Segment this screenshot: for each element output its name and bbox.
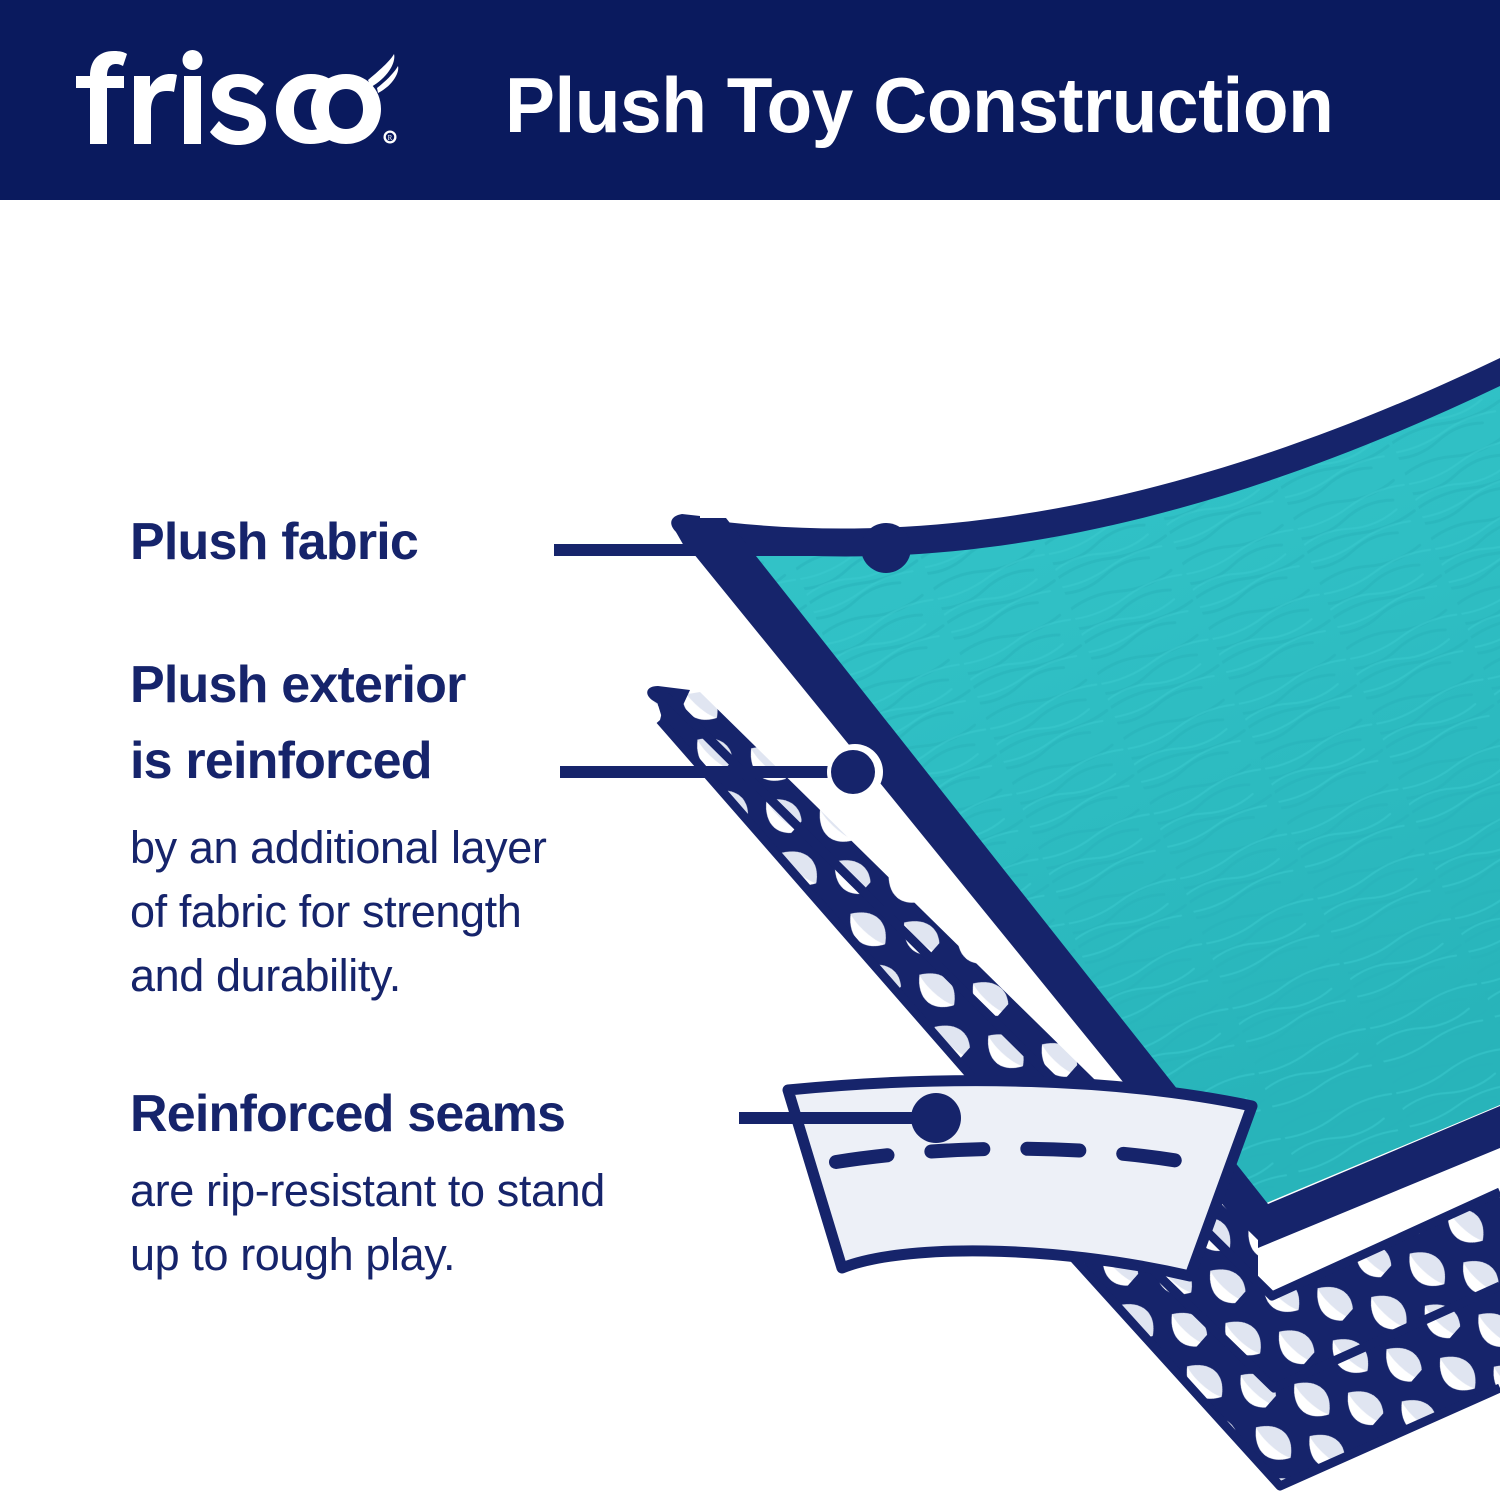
callout-plush-exterior: Plush exterior is reinforced by an addit… (130, 648, 546, 1007)
infographic-page: R Plush Toy Construction (0, 0, 1500, 1500)
callout-plush-exterior-heading: Plush exterior is reinforced (130, 648, 546, 800)
svg-text:R: R (388, 134, 393, 142)
frisco-logo: R (72, 48, 402, 152)
reinforced-seam-flap (788, 1081, 1268, 1280)
header-bar: R Plush Toy Construction (0, 0, 1500, 200)
callout-reinforced-seams-heading: Reinforced seams (130, 1077, 605, 1153)
page-title: Plush Toy Construction (505, 50, 1369, 160)
callout-plush-exterior-body: by an additional layer of fabric for str… (130, 816, 546, 1008)
callout-plush-fabric-heading: Plush fabric (130, 505, 418, 581)
callout-reinforced-seams-body: are rip-resistant to stand up to rough p… (130, 1159, 605, 1287)
callout-plush-fabric: Plush fabric (130, 505, 418, 581)
callout-reinforced-seams: Reinforced seams are rip-resistant to st… (130, 1077, 605, 1287)
